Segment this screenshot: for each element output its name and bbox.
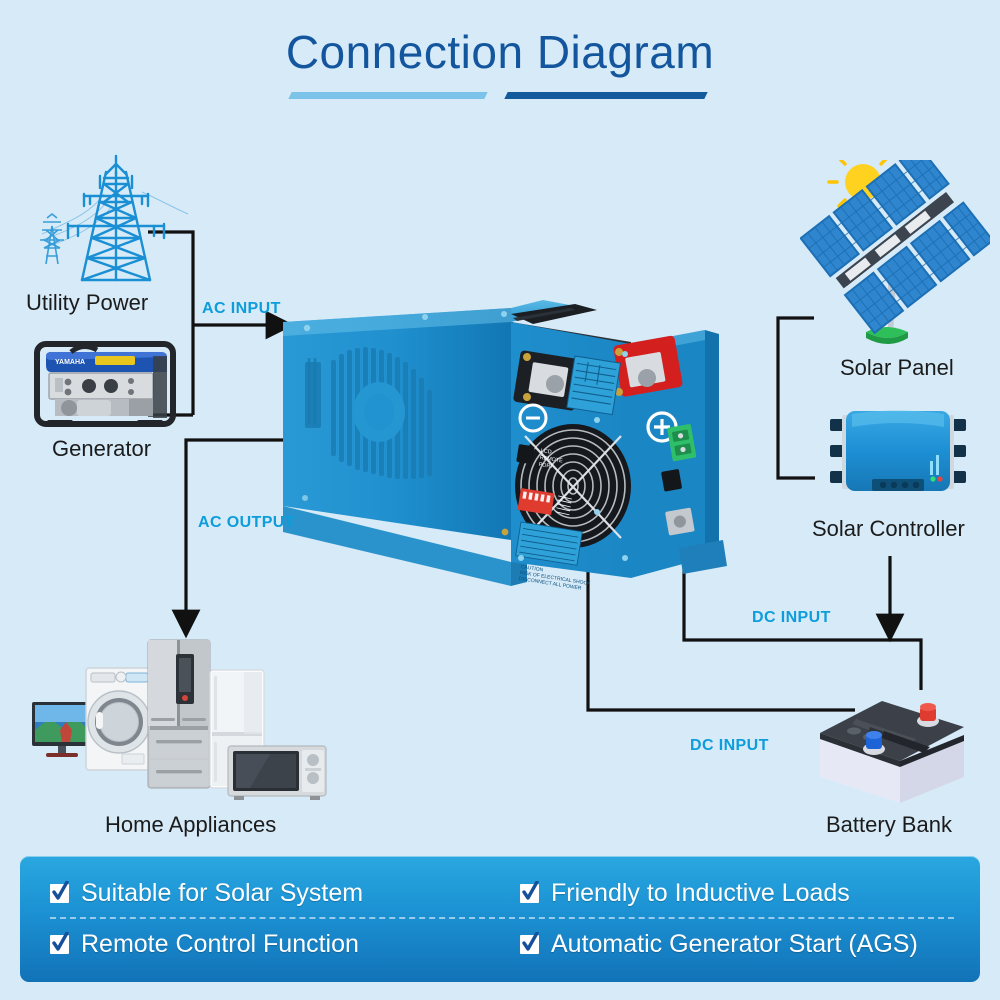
transmission-tower-icon xyxy=(38,148,198,288)
power-inverter-icon: LCDREMOTEPORT xyxy=(275,300,745,595)
feature-row-2: Remote Control Function Automatic Genera… xyxy=(50,919,954,969)
check-icon xyxy=(520,935,539,954)
feature-label: Suitable for Solar System xyxy=(81,879,363,908)
charge-controller-icon xyxy=(828,405,968,500)
battery-icon xyxy=(812,665,972,805)
svg-text:YAMAHA: YAMAHA xyxy=(55,359,85,366)
connection-diagram-page: Connection Diagram xyxy=(0,0,1000,1000)
generator-label: Generator xyxy=(52,436,151,462)
home-appliances-label: Home Appliances xyxy=(105,812,276,838)
label-dc-input-battery: DC INPUT xyxy=(690,737,769,755)
check-icon xyxy=(50,935,69,954)
feature-label: Remote Control Function xyxy=(81,930,359,959)
solar-array-icon xyxy=(800,160,990,350)
feature-item-ags: Automatic Generator Start (AGS) xyxy=(520,930,918,959)
solar-panel-label: Solar Panel xyxy=(840,355,954,381)
page-title: Connection Diagram xyxy=(0,28,1000,78)
tv-icon xyxy=(32,702,94,757)
microwave-icon xyxy=(228,746,326,800)
feature-row-1: Suitable for Solar System Friendly to In… xyxy=(50,869,954,919)
utility-power-label: Utility Power xyxy=(26,290,148,316)
portable-generator-icon: YAMAHA xyxy=(33,336,177,432)
feature-label: Friendly to Inductive Loads xyxy=(551,879,850,908)
battery-bank-label: Battery Bank xyxy=(826,812,952,838)
check-icon xyxy=(50,884,69,903)
title-block: Connection Diagram xyxy=(0,28,1000,100)
feature-item-inductive: Friendly to Inductive Loads xyxy=(520,879,850,908)
title-rule-dark xyxy=(504,92,707,99)
title-rule-light xyxy=(288,92,487,99)
washing-machine-icon xyxy=(86,668,152,770)
label-ac-output: AC OUTPUT xyxy=(198,514,295,532)
label-dc-input-controller: DC INPUT xyxy=(752,609,831,627)
feature-item-remote: Remote Control Function xyxy=(50,930,520,959)
title-underline xyxy=(270,92,730,100)
feature-label: Automatic Generator Start (AGS) xyxy=(551,930,918,959)
appliances-icon xyxy=(30,630,350,810)
feature-item-solar: Suitable for Solar System xyxy=(50,879,520,908)
check-icon xyxy=(520,884,539,903)
label-ac-input: AC INPUT xyxy=(202,300,281,318)
refrigerator-icon xyxy=(148,640,210,788)
solar-controller-label: Solar Controller xyxy=(812,516,965,542)
features-panel: Suitable for Solar System Friendly to In… xyxy=(20,856,980,982)
